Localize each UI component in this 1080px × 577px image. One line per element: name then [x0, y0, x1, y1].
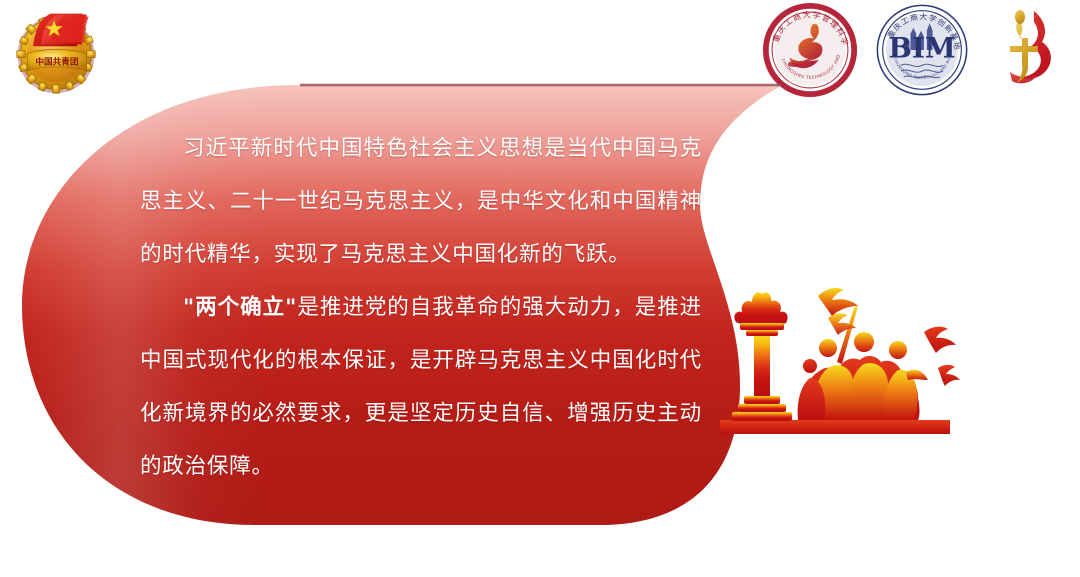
crowd-silhouette-icon	[798, 306, 928, 420]
bim-logo-icon: 重庆工商大学创新基地 BIM	[874, 2, 970, 98]
huabiao-column-icon	[732, 292, 792, 421]
illustration-base	[720, 420, 950, 434]
quote-paragraph-1: 习近平新时代中国特色社会主义思想是当代中国马克思主义、二十一世纪马克思主义，是中…	[140, 122, 702, 281]
bim-wordmark: BIM	[888, 32, 955, 65]
poster-canvas: 中国共青团 重庆工商大学管理科学与	[0, 0, 1080, 577]
quote-text-block: 习近平新时代中国特色社会主义思想是当代中国马克思主义、二十一世纪马克思主义，是中…	[140, 122, 702, 493]
huabiao-crowd-doves-illustration	[706, 268, 1006, 448]
quote-emphasis: "两个确立"	[183, 295, 297, 320]
quote-paragraph-2-rest: 是推进党的自我革命的强大动力，是推进中国式现代化的根本保证，是开辟马克思主义中国…	[140, 295, 702, 479]
flame-emblem-icon	[986, 2, 1076, 98]
quote-paragraph-2: "两个确立"是推进党的自我革命的强大动力，是推进中国式现代化的根本保证，是开辟马…	[140, 281, 702, 493]
